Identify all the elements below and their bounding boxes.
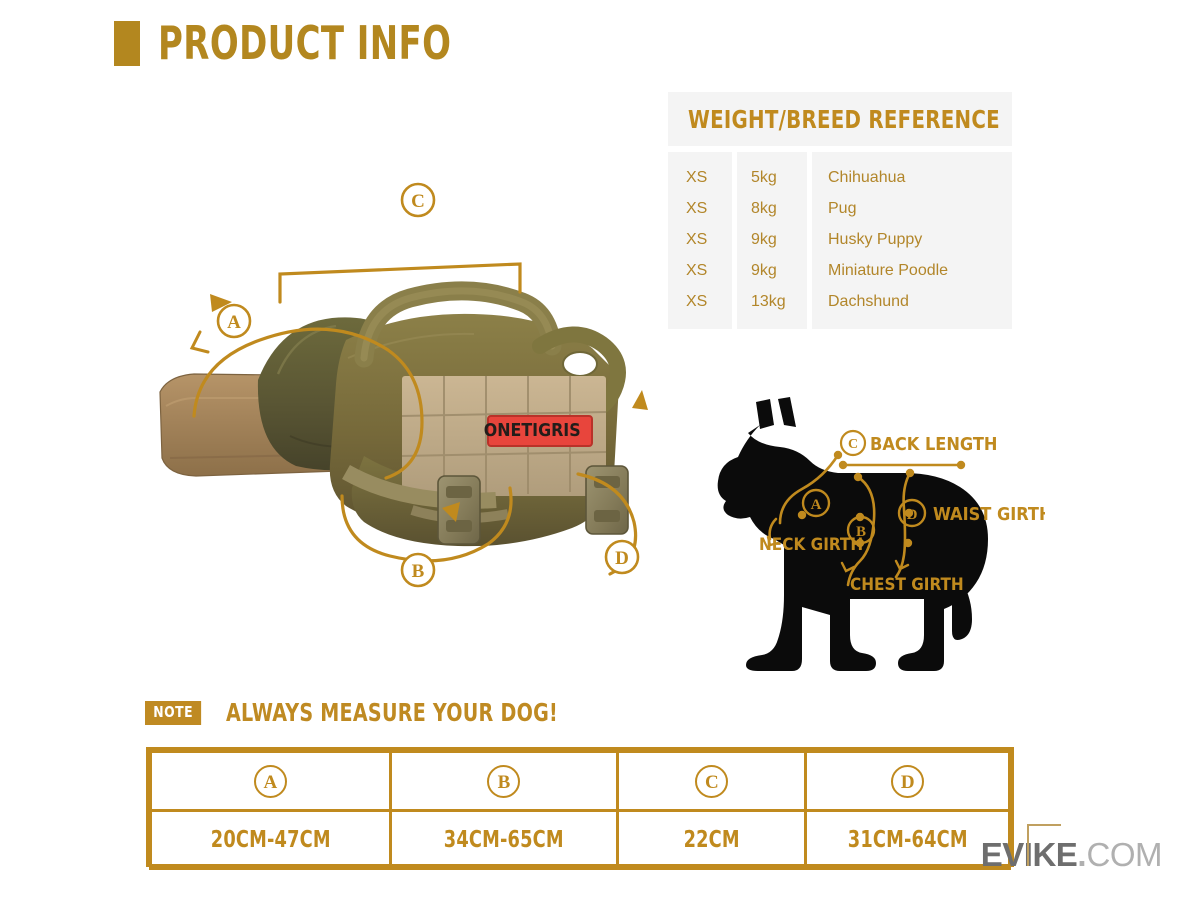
measurement-value-b-text: 34CM-65CM xyxy=(444,827,564,853)
measurement-value-a: 20CM-47CM xyxy=(151,811,391,869)
evike-logo-name: EVIKE xyxy=(981,836,1078,874)
weight-breed-weight-column: 5kg 8kg 9kg 9kg 13kg xyxy=(737,152,807,329)
evike-logo: EVIKE . COM xyxy=(981,836,1162,874)
callout-badge-c: C xyxy=(402,184,434,216)
table-cell-breed: Pug xyxy=(812,193,1012,224)
measurement-value-c: 22CM xyxy=(618,811,806,869)
table-cell-weight: 9kg xyxy=(737,255,807,286)
note-row: NOTE ALWAYS MEASURE YOUR DOG! xyxy=(145,698,617,727)
svg-text:B: B xyxy=(412,561,425,582)
svg-text:A: A xyxy=(227,312,241,333)
callout-badge-a: A xyxy=(218,305,250,337)
dog-measurement-diagram: C BACK LENGTH A NECK GIRTH B CHEST GIRTH… xyxy=(700,385,1045,675)
weight-breed-reference: WEIGHT/BREED REFERENCE XS XS XS XS XS 5k… xyxy=(668,92,1012,329)
weight-breed-header: WEIGHT/BREED REFERENCE xyxy=(668,92,1012,146)
weight-breed-breed-column: Chihuahua Pug Husky Puppy Miniature Pood… xyxy=(812,152,1012,329)
dog-label-chest-girth-text: CHEST GIRTH xyxy=(850,575,964,595)
measurement-value-d: 31CM-64CM xyxy=(806,811,1010,869)
measurement-header-d: D xyxy=(806,752,1010,811)
table-row: 20CM-47CM 34CM-65CM 22CM 31CM-64CM xyxy=(151,811,1010,869)
harness-product-photo: ONETIGRIS xyxy=(150,180,680,610)
table-cell-breed: Chihuahua xyxy=(812,162,1012,193)
table-cell-weight: 13kg xyxy=(737,286,807,317)
weight-breed-body: XS XS XS XS XS 5kg 8kg 9kg 9kg 13kg Chih… xyxy=(668,152,1012,329)
measurement-header-b: B xyxy=(390,752,618,811)
table-cell-breed: Dachshund xyxy=(812,286,1012,317)
callout-badge-d: D xyxy=(606,541,638,573)
measurement-header-c: C xyxy=(618,752,806,811)
dog-label-back-length: C BACK LENGTH xyxy=(841,431,997,455)
table-row: A B C D xyxy=(151,752,1010,811)
dog-label-neck-girth-text: NECK GIRTH xyxy=(759,535,863,555)
svg-text:D: D xyxy=(907,507,918,523)
note-badge: NOTE xyxy=(145,701,201,725)
measurement-value-c-text: 22CM xyxy=(684,827,740,853)
table-cell-weight: 9kg xyxy=(737,224,807,255)
circled-letter-d: D xyxy=(891,765,924,798)
svg-text:C: C xyxy=(411,191,425,212)
table-cell-breed: Miniature Poodle xyxy=(812,255,1012,286)
evike-logo-accent-horizontal xyxy=(1027,824,1061,826)
title-square-mark xyxy=(114,21,140,66)
measurement-header-a: A xyxy=(151,752,391,811)
table-cell-weight: 5kg xyxy=(737,162,807,193)
weight-breed-header-label: WEIGHT/BREED REFERENCE xyxy=(688,105,1000,134)
circled-letter-b: B xyxy=(487,765,520,798)
evike-logo-dot: . xyxy=(1077,836,1086,874)
circled-letter-c: C xyxy=(695,765,728,798)
evike-logo-accent-vertical xyxy=(1027,824,1029,866)
evike-logo-tld: COM xyxy=(1087,836,1163,874)
circled-letter-a: A xyxy=(254,765,287,798)
onetigris-patch-text: ONETIGRIS xyxy=(484,420,581,441)
table-cell-weight: 8kg xyxy=(737,193,807,224)
svg-text:B: B xyxy=(856,524,866,540)
measurement-value-a-text: 20CM-47CM xyxy=(210,827,330,853)
measurement-value-b: 34CM-65CM xyxy=(390,811,618,869)
dog-label-waist-girth-text: WAIST GIRTH xyxy=(933,504,1045,525)
measurement-value-d-text: 31CM-64CM xyxy=(848,827,968,853)
table-cell-breed: Husky Puppy xyxy=(812,224,1012,255)
measurement-table: A B C D 20CM-47CM 34CM-65CM xyxy=(146,747,1014,867)
callout-badge-b: B xyxy=(402,554,434,586)
page-title-row: PRODUCT INFO xyxy=(114,20,516,66)
callout-a-arrow xyxy=(192,332,208,352)
svg-text:C: C xyxy=(848,437,858,452)
svg-text:D: D xyxy=(615,548,629,569)
dog-label-back-length-text: BACK LENGTH xyxy=(870,434,997,455)
note-text: ALWAYS MEASURE YOUR DOG! xyxy=(226,698,558,727)
page-title: PRODUCT INFO xyxy=(158,20,451,66)
svg-text:A: A xyxy=(811,497,822,513)
product-info-page: PRODUCT INFO WEIGHT/BREED REFERENCE XS X… xyxy=(0,0,1200,900)
onetigris-patch: ONETIGRIS xyxy=(484,416,592,446)
